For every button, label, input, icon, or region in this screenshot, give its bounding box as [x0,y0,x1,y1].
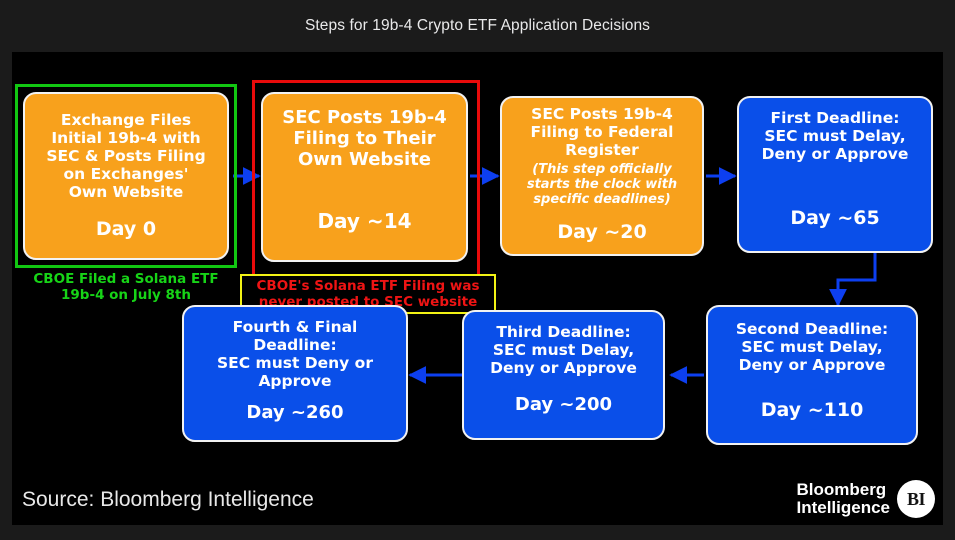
bi-mark-text: BI [907,489,925,510]
node-title: SEC Posts 19b-4 Filing to Federal Regist… [505,106,699,160]
node-subtitle: (This step officially starts the clock w… [505,162,699,207]
node-title: First Deadline: SEC must Delay, Deny or … [742,110,928,164]
node-day-label: Day 0 [96,218,156,240]
node-title: Exchange Files Initial 19b-4 with SEC & … [29,112,223,202]
bi-brand-line2: Intelligence [796,499,890,517]
node-day-label: Day ~260 [246,403,343,424]
diagram-root: Steps for 19b-4 Crypto ETF Application D… [0,0,955,540]
diagram-canvas: Exchange Files Initial 19b-4 with SEC & … [12,52,943,525]
source-label: Source: Bloomberg Intelligence [22,488,314,512]
node-day-label: Day ~110 [761,399,864,421]
node-title: SEC Posts 19b-4 Filing to Their Own Webs… [267,108,462,171]
annotation-cboe-filed: CBOE Filed a Solana ETF 19b-4 on July 8t… [17,271,235,303]
node-title: Third Deadline: SEC must Delay, Deny or … [467,324,660,378]
bi-brand-line1: Bloomberg [796,481,886,499]
node-sec-posts-own-website[interactable]: SEC Posts 19b-4 Filing to Their Own Webs… [261,92,468,262]
page-title: Steps for 19b-4 Crypto ETF Application D… [305,17,650,35]
node-fourth-deadline[interactable]: Fourth & Final Deadline: SEC must Deny o… [182,305,408,442]
node-day-label: Day ~14 [317,210,411,233]
node-sec-posts-federal-register[interactable]: SEC Posts 19b-4 Filing to Federal Regist… [500,96,704,256]
node-first-deadline[interactable]: First Deadline: SEC must Delay, Deny or … [737,96,933,253]
node-exchange-files[interactable]: Exchange Files Initial 19b-4 with SEC & … [23,92,229,260]
bloomberg-intelligence-logo: Bloomberg Intelligence BI [796,480,935,518]
node-day-label: Day ~20 [557,221,646,243]
node-day-label: Day ~200 [515,395,612,416]
node-title: Second Deadline: SEC must Delay, Deny or… [711,321,913,375]
node-title: Fourth & Final Deadline: SEC must Deny o… [187,319,403,391]
node-third-deadline[interactable]: Third Deadline: SEC must Delay, Deny or … [462,310,665,440]
bi-circle-icon: BI [897,480,935,518]
title-bar: Steps for 19b-4 Crypto ETF Application D… [0,0,955,52]
footer: Source: Bloomberg Intelligence Bloomberg… [12,470,943,540]
node-day-label: Day ~65 [790,207,879,229]
bi-wordmark: Bloomberg Intelligence [796,481,890,517]
node-second-deadline[interactable]: Second Deadline: SEC must Delay, Deny or… [706,305,918,445]
